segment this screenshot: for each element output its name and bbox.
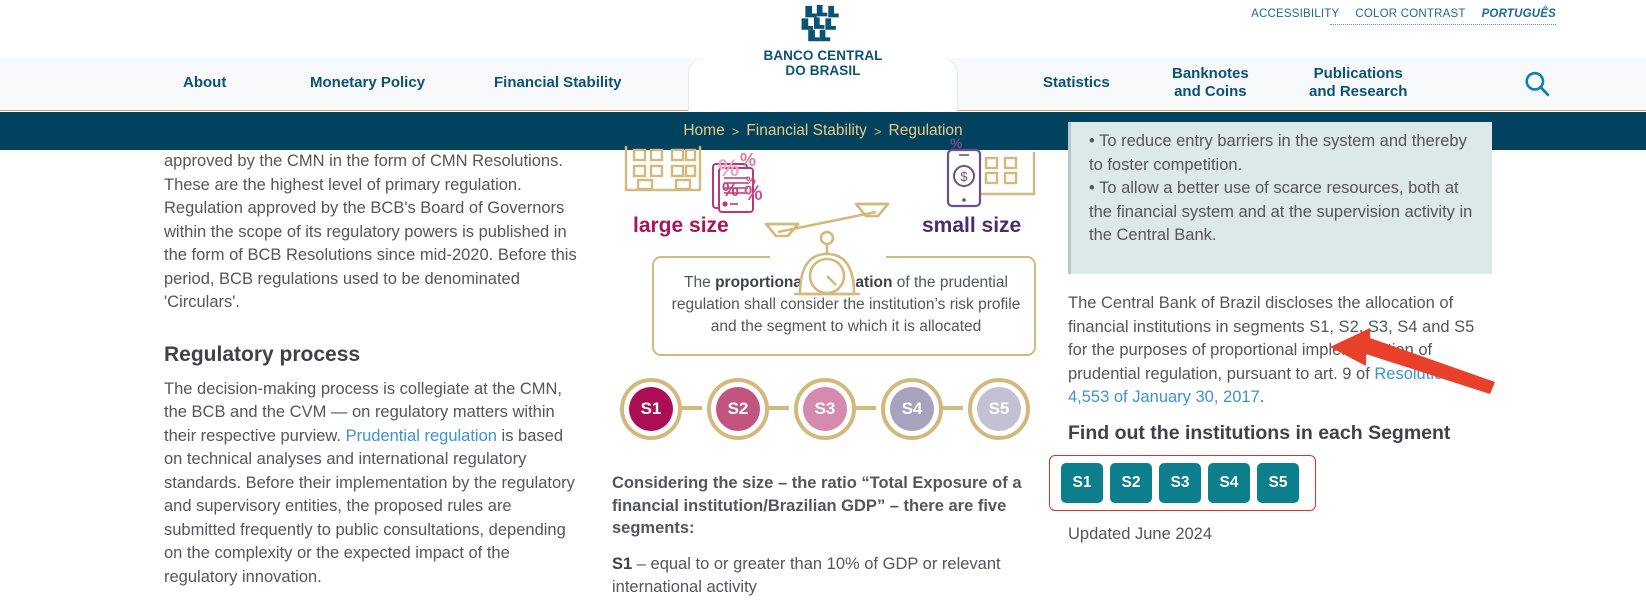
accessibility-link[interactable]: ACCESSIBILITY — [1251, 8, 1339, 20]
updated-date-label: Updated June 2024 — [1068, 525, 1212, 544]
segment-circle-s3: S3 — [794, 378, 856, 440]
segment-chain: S1 S2 S3 S4 S5 — [612, 378, 1052, 444]
small-size-label: small size — [922, 214, 1021, 238]
nav-item-publications-and-research[interactable]: Publications and Research — [1309, 65, 1407, 100]
segment-s1-key: S1 — [612, 555, 632, 573]
regulatory-process-heading: Regulatory process — [164, 343, 582, 367]
nav-item-banknotes-line1: Banknotes — [1172, 65, 1249, 82]
utility-links: ACCESSIBILITY COLOR CONTRAST PORTUGUÊS — [1251, 8, 1556, 20]
nav-item-monetary-policy[interactable]: Monetary Policy — [310, 74, 425, 92]
breadcrumb-separator: > — [732, 124, 740, 139]
svg-text:$: $ — [960, 169, 968, 184]
segment-label-s5: S5 — [977, 387, 1021, 431]
svg-text:%: % — [744, 182, 763, 205]
segment-circle-s5: S5 — [968, 378, 1030, 440]
segment-label-s3: S3 — [803, 387, 847, 431]
left-column: approved by the CMN in the form of CMN R… — [164, 150, 582, 589]
segments-intro-text: Considering the size – the ratio “Total … — [612, 472, 1052, 540]
regulation-paragraph-1: approved by the CMN in the form of CMN R… — [164, 150, 582, 315]
breadcrumb-separator: > — [874, 124, 882, 139]
nav-item-statistics[interactable]: Statistics — [1043, 74, 1110, 92]
svg-text:%: % — [718, 155, 739, 182]
nav-item-publications-line1: Publications — [1314, 65, 1403, 82]
segment-button-s5[interactable]: S5 — [1257, 463, 1299, 503]
segment-s1-text: – equal to or greater than 10% of GDP or… — [612, 555, 1001, 596]
segment-circle-s1: S1 — [620, 378, 682, 440]
objective-line-clipped: • To reduce entry barriers in the system… — [1089, 130, 1474, 154]
segment-circle-s2: S2 — [707, 378, 769, 440]
logo-line-2: DO BRASIL — [723, 63, 923, 78]
segment-buttons-group: S1 S2 S3 S4 S5 — [1061, 463, 1299, 503]
language-portugues-link[interactable]: PORTUGUÊS — [1482, 8, 1556, 20]
utility-links-underline — [1330, 24, 1556, 25]
color-contrast-link[interactable]: COLOR CONTRAST — [1355, 8, 1465, 20]
segment-label-s2: S2 — [716, 387, 760, 431]
nav-item-banknotes-line2: and Coins — [1174, 83, 1247, 100]
regulation-paragraph-2: The decision-making process is collegiat… — [164, 378, 582, 590]
search-icon — [1522, 69, 1552, 99]
logo-line-1: BANCO CENTRAL — [723, 48, 923, 63]
segment-label-s1: S1 — [629, 387, 673, 431]
svg-text:%: % — [740, 150, 756, 170]
red-arrow-annotation-icon — [1330, 320, 1500, 410]
paragraph-2-part-b: is based on technical analyses and inter… — [164, 427, 575, 586]
objective-line-3: • To allow a better use of scarce resour… — [1089, 177, 1474, 201]
objective-line-5: the Central Bank. — [1089, 224, 1474, 248]
nav-item-banknotes-and-coins[interactable]: Banknotes and Coins — [1172, 65, 1249, 100]
svg-text:%: % — [950, 135, 963, 151]
disclosure-part-b: . — [1260, 388, 1265, 406]
segment-button-s4[interactable]: S4 — [1208, 463, 1250, 503]
objectives-callout-box: • To reduce entry barriers in the system… — [1068, 122, 1492, 274]
search-button[interactable] — [1520, 68, 1554, 102]
segment-s1-definition: S1 – equal to or greater than 10% of GDP… — [612, 553, 1052, 599]
proportionality-infographic: % % % % % $ — [612, 150, 1052, 470]
callout-text-a: The — [684, 274, 715, 291]
nav-item-publications-line2: and Research — [1309, 83, 1407, 100]
prudential-regulation-link[interactable]: Prudential regulation — [346, 427, 497, 445]
nav-item-about[interactable]: About — [183, 74, 226, 92]
find-institutions-heading: Find out the institutions in each Segmen… — [1068, 422, 1492, 445]
segment-label-s4: S4 — [890, 387, 934, 431]
large-size-label: large size — [633, 214, 729, 238]
site-logo[interactable]: BANCO CENTRAL DO BRASIL — [723, 4, 923, 78]
percent-small-icon: % — [946, 128, 976, 158]
center-column: % % % % % $ — [612, 150, 1052, 470]
svg-text:%: % — [722, 180, 739, 201]
segment-button-s2[interactable]: S2 — [1110, 463, 1152, 503]
segments-description: Considering the size – the ratio “Total … — [612, 472, 1052, 599]
objective-line-2: to foster competition. — [1089, 154, 1474, 178]
nav-item-financial-stability[interactable]: Financial Stability — [494, 74, 622, 92]
bcb-logo-icon — [792, 4, 853, 46]
segment-button-s1[interactable]: S1 — [1061, 463, 1103, 503]
segment-button-s3[interactable]: S3 — [1159, 463, 1201, 503]
balance-scale-icon — [764, 198, 892, 300]
objective-line-4: the financial system and at the supervis… — [1089, 201, 1474, 225]
segment-circle-s4: S4 — [881, 378, 943, 440]
